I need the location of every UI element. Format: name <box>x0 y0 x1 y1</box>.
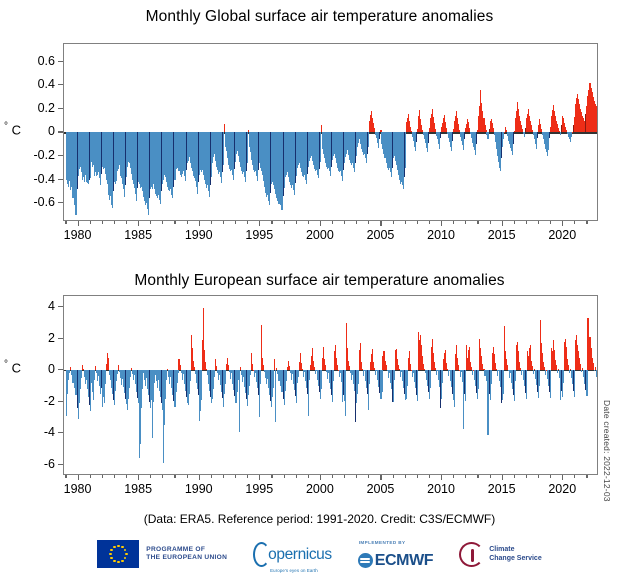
x-tick-minor <box>453 475 454 478</box>
x-tick-label: 1995 <box>245 228 273 242</box>
copernicus-wordmark: opernicus <box>268 547 332 562</box>
bar <box>309 370 310 379</box>
bar <box>368 132 369 146</box>
climate-figure: Monthly Global surface air temperature a… <box>0 0 639 576</box>
bar <box>573 370 574 391</box>
x-tick-major <box>259 221 260 226</box>
bar <box>489 129 490 133</box>
bar <box>260 370 261 384</box>
bar <box>222 370 223 398</box>
x-tick-minor <box>90 475 91 478</box>
x-tick-minor <box>296 475 297 478</box>
x-tick-label: 2010 <box>427 228 455 242</box>
x-tick-minor <box>187 221 188 224</box>
y-tick-mark <box>58 401 63 402</box>
bar <box>77 370 78 408</box>
bar <box>487 132 488 139</box>
bar <box>198 370 199 395</box>
bar <box>586 370 587 396</box>
bar <box>198 132 199 182</box>
x-tick-minor <box>429 221 430 224</box>
x-tick-minor <box>405 221 406 224</box>
c3s-logo-text: Climate Change Service <box>489 545 542 563</box>
bar <box>379 132 380 139</box>
bar <box>404 370 405 394</box>
eu-star-icon <box>110 549 113 552</box>
eu-logo: PROGRAMME OF THE EUROPEAN UNION <box>97 540 227 568</box>
x-tick-minor <box>453 221 454 224</box>
bar <box>258 370 259 394</box>
bar <box>452 132 453 140</box>
bar <box>521 370 522 375</box>
x-tick-minor <box>150 475 151 478</box>
x-tick-major <box>502 221 503 226</box>
x-tick-minor <box>65 475 66 478</box>
bar <box>295 370 296 396</box>
bar <box>367 132 368 153</box>
bar <box>105 370 106 384</box>
y-tick-mark <box>58 179 63 180</box>
bar <box>369 370 370 384</box>
x-tick-minor <box>550 221 551 224</box>
x-tick-label: 1985 <box>124 482 152 496</box>
x-tick-minor <box>538 475 539 478</box>
eu-star-icon <box>124 557 127 560</box>
bar <box>525 370 526 392</box>
x-tick-major <box>78 221 79 226</box>
bar <box>210 132 211 185</box>
x-tick-minor <box>429 475 430 478</box>
date-created-label: Date created: 2022-12-03 <box>602 400 612 502</box>
bar <box>94 370 95 379</box>
x-tick-minor <box>393 221 394 224</box>
x-tick-label: 2000 <box>306 228 334 242</box>
y-tick-mark <box>58 338 63 339</box>
bar <box>379 370 380 393</box>
x-tick-label: 1995 <box>245 482 273 496</box>
x-tick-minor <box>405 475 406 478</box>
x-tick-minor <box>90 221 91 224</box>
eu-logo-line1: PROGRAMME OF <box>146 546 227 554</box>
bar <box>569 370 570 372</box>
x-tick-minor <box>284 221 285 224</box>
bar <box>430 370 431 387</box>
bar <box>201 370 202 400</box>
x-tick-major <box>562 221 563 226</box>
x-tick-minor <box>308 221 309 224</box>
bar <box>392 132 393 167</box>
bar <box>333 370 334 381</box>
x-tick-label: 2005 <box>367 482 395 496</box>
x-tick-minor <box>211 475 212 478</box>
copernicus-logo: opernicus Europe's eyes on Earth <box>253 542 332 567</box>
x-tick-label: 2015 <box>488 482 516 496</box>
x-tick-major <box>380 475 381 480</box>
bar <box>524 132 525 137</box>
bar <box>464 132 465 139</box>
y-tick-label: -4 <box>15 425 55 439</box>
x-tick-minor <box>356 475 357 478</box>
bar <box>367 370 368 394</box>
bar <box>321 125 322 132</box>
x-tick-major <box>320 475 321 480</box>
x-tick-major <box>380 221 381 226</box>
bar <box>270 132 271 192</box>
x-tick-minor <box>477 221 478 224</box>
bar <box>275 370 276 422</box>
bar <box>210 370 211 397</box>
bar <box>343 370 344 394</box>
bar <box>355 132 356 163</box>
x-tick-minor <box>574 221 575 224</box>
y-tick-label: 0.2 <box>15 101 55 115</box>
bar <box>223 132 224 165</box>
bar <box>113 370 114 400</box>
c3s-line2: Change Service <box>489 554 542 563</box>
x-tick-minor <box>538 221 539 224</box>
x-tick-minor <box>296 221 297 224</box>
x-tick-minor <box>223 475 224 478</box>
bar <box>321 370 322 389</box>
bar <box>513 370 514 395</box>
bar <box>307 370 308 394</box>
bar <box>465 370 466 400</box>
x-tick-minor <box>490 475 491 478</box>
y-tick-label: 0 <box>15 124 55 138</box>
bar <box>234 370 235 396</box>
bar <box>345 370 346 416</box>
chart-title-global: Monthly Global surface air temperature a… <box>0 8 639 26</box>
bar <box>560 132 561 134</box>
x-tick-minor <box>526 475 527 478</box>
eu-logo-line2: THE EUROPEAN UNION <box>146 554 227 562</box>
bar <box>166 370 167 379</box>
plot-area-global <box>63 43 598 221</box>
y-tick-mark <box>58 464 63 465</box>
x-tick-major <box>441 475 442 480</box>
bar <box>405 132 406 167</box>
bar <box>69 370 70 373</box>
eu-star-icon <box>110 557 113 560</box>
bar <box>270 370 271 401</box>
y-tick-mark <box>58 61 63 62</box>
x-tick-minor <box>344 475 345 478</box>
bar <box>428 370 429 392</box>
c3s-line1: Climate <box>489 545 542 554</box>
bar <box>358 370 359 384</box>
bar <box>286 370 287 381</box>
x-tick-minor <box>284 475 285 478</box>
bar <box>89 370 90 405</box>
plot-area-europe <box>63 295 598 475</box>
bar <box>407 370 408 386</box>
bar <box>513 132 514 144</box>
x-tick-minor <box>65 221 66 224</box>
x-tick-minor <box>526 221 527 224</box>
x-tick-major <box>78 475 79 480</box>
x-tick-label: 2005 <box>367 228 395 242</box>
bar <box>581 370 582 372</box>
x-tick-label: 1990 <box>185 482 213 496</box>
bar <box>452 370 453 393</box>
bar <box>319 132 320 169</box>
x-tick-minor <box>211 221 212 224</box>
y-tick-mark <box>58 306 63 307</box>
x-tick-minor <box>187 475 188 478</box>
bar <box>186 132 187 170</box>
bar <box>572 132 573 133</box>
bar <box>283 132 284 196</box>
y-tick-label: -2 <box>15 394 55 408</box>
x-tick-minor <box>332 221 333 224</box>
x-tick-minor <box>417 475 418 478</box>
bar <box>557 370 558 373</box>
x-tick-major <box>199 475 200 480</box>
ecmwf-implemented-by-label: IMPLEMENTED BY <box>359 540 406 545</box>
bar <box>464 370 465 394</box>
bar <box>476 132 477 144</box>
x-tick-minor <box>223 221 224 224</box>
bar <box>190 370 191 381</box>
bar <box>563 370 564 383</box>
bar <box>416 132 417 141</box>
bar <box>585 114 586 133</box>
x-tick-minor <box>174 475 175 478</box>
y-tick-label: -6 <box>15 457 55 471</box>
y-tick-label: -0.2 <box>15 148 55 162</box>
bar <box>177 370 178 373</box>
x-tick-major <box>562 475 563 480</box>
bar <box>594 370 595 371</box>
bar <box>295 132 296 183</box>
x-tick-label: 2020 <box>548 482 576 496</box>
c3s-logo: Climate Change Service <box>459 542 542 567</box>
y-tick-label: 0.6 <box>15 54 55 68</box>
bar <box>476 370 477 392</box>
bar <box>550 370 551 398</box>
x-tick-minor <box>465 475 466 478</box>
bar <box>561 370 562 391</box>
y-tick-label: 0.4 <box>15 77 55 91</box>
x-tick-minor <box>586 221 587 224</box>
bar <box>247 132 248 163</box>
y-tick-mark <box>58 155 63 156</box>
bar <box>161 132 162 191</box>
bar-series-global <box>64 44 597 220</box>
x-tick-minor <box>514 221 515 224</box>
x-tick-minor <box>344 221 345 224</box>
bar <box>225 370 226 384</box>
x-tick-minor <box>126 221 127 224</box>
bar <box>298 370 299 376</box>
y-tick-mark <box>58 369 63 370</box>
x-tick-major <box>199 221 200 226</box>
bar <box>125 132 126 185</box>
x-tick-minor <box>174 221 175 224</box>
bar <box>442 370 443 383</box>
x-tick-label: 2010 <box>427 482 455 496</box>
bar <box>539 370 540 386</box>
x-tick-minor <box>162 221 163 224</box>
x-tick-label: 2015 <box>488 228 516 242</box>
bar <box>343 132 344 170</box>
bar <box>533 370 534 374</box>
y-tick-mark <box>58 108 63 109</box>
x-tick-major <box>441 221 442 226</box>
bar <box>428 132 429 143</box>
x-tick-minor <box>114 221 115 224</box>
bar <box>504 132 505 133</box>
bar <box>545 370 546 374</box>
bar <box>363 370 364 376</box>
bar <box>258 132 259 170</box>
c3s-thermometer-icon <box>459 542 484 567</box>
bar <box>149 370 150 402</box>
x-tick-minor <box>126 475 127 478</box>
bar <box>224 124 225 132</box>
bar <box>585 370 586 390</box>
eu-logo-text: PROGRAMME OF THE EUROPEAN UNION <box>146 546 227 563</box>
bar <box>149 132 150 198</box>
eu-flag-icon <box>97 540 139 568</box>
x-tick-label: 1980 <box>64 482 92 496</box>
bar <box>454 370 455 406</box>
ecmwf-wordmark: ECMWF <box>375 553 433 569</box>
bar-series-europe <box>64 296 597 474</box>
bar <box>222 132 223 172</box>
x-tick-minor <box>490 221 491 224</box>
eu-star-icon <box>121 560 124 563</box>
bar <box>108 358 109 371</box>
bar <box>489 370 490 394</box>
x-tick-label: 2020 <box>548 228 576 242</box>
bar <box>117 370 118 374</box>
y-tick-label: 2 <box>15 331 55 345</box>
bar <box>501 370 502 403</box>
x-tick-minor <box>308 475 309 478</box>
y-tick-label: 0 <box>15 362 55 376</box>
panel-europe: Monthly European surface air temperature… <box>0 262 639 524</box>
eu-star-icon <box>124 549 127 552</box>
bar <box>246 132 247 171</box>
x-tick-label: 1985 <box>124 228 152 242</box>
bar <box>331 370 332 395</box>
bar <box>137 370 138 398</box>
x-tick-minor <box>465 221 466 224</box>
bar <box>503 132 504 139</box>
bar <box>537 132 538 138</box>
x-tick-label: 1980 <box>64 228 92 242</box>
bar <box>501 132 502 158</box>
x-tick-minor <box>514 475 515 478</box>
x-tick-minor <box>332 475 333 478</box>
y-tick-mark <box>58 84 63 85</box>
bar <box>491 370 492 384</box>
bar <box>77 132 78 189</box>
eu-star-icon <box>113 560 116 563</box>
bar <box>394 370 395 379</box>
bar <box>307 132 308 173</box>
bar <box>440 132 441 138</box>
x-tick-minor <box>356 221 357 224</box>
bar <box>173 132 174 186</box>
bar <box>81 370 82 378</box>
x-tick-minor <box>477 475 478 478</box>
bar <box>101 370 102 387</box>
x-tick-minor <box>235 475 236 478</box>
bar <box>186 370 187 397</box>
bar <box>246 370 247 399</box>
y-tick-label: 4 <box>15 299 55 313</box>
bar <box>239 370 240 432</box>
bar <box>234 132 235 169</box>
bar <box>571 132 572 137</box>
y-tick-mark <box>58 131 63 132</box>
bar <box>549 370 550 392</box>
bar <box>472 370 473 374</box>
x-tick-minor <box>393 475 394 478</box>
ecmwf-row: ECMWF <box>358 553 433 569</box>
bar <box>273 370 274 387</box>
x-tick-major <box>138 221 139 226</box>
x-tick-minor <box>271 475 272 478</box>
bar <box>319 370 320 392</box>
x-tick-minor <box>574 475 575 478</box>
bar <box>593 363 594 370</box>
bar <box>161 370 162 403</box>
eu-star-icon <box>125 553 128 556</box>
x-tick-major <box>259 475 260 480</box>
x-tick-minor <box>150 221 151 224</box>
y-tick-mark <box>58 202 63 203</box>
y-tick-mark <box>58 432 63 433</box>
x-tick-minor <box>368 221 369 224</box>
x-tick-minor <box>247 475 248 478</box>
bar <box>525 128 526 133</box>
x-tick-minor <box>235 221 236 224</box>
bar <box>137 132 138 187</box>
x-tick-minor <box>114 475 115 478</box>
bar <box>537 370 538 391</box>
bar <box>113 132 114 191</box>
bar <box>417 370 418 401</box>
bar <box>130 370 131 376</box>
bar <box>89 132 90 179</box>
x-tick-label: 2000 <box>306 482 334 496</box>
x-tick-minor <box>247 221 248 224</box>
bar <box>549 132 550 138</box>
figure-caption: (Data: ERA5. Reference period: 1991-2020… <box>0 512 639 526</box>
bar <box>478 370 479 389</box>
bar <box>416 370 417 394</box>
bar <box>331 132 332 166</box>
x-tick-minor <box>368 475 369 478</box>
bar <box>355 370 356 422</box>
x-tick-major <box>138 475 139 480</box>
x-tick-minor <box>550 475 551 478</box>
bar <box>574 370 575 397</box>
x-tick-minor <box>102 475 103 478</box>
x-tick-minor <box>586 475 587 478</box>
bar <box>250 370 251 375</box>
eu-star-icon <box>121 546 124 549</box>
bar <box>214 370 215 376</box>
bar <box>503 370 504 394</box>
bar <box>573 125 574 132</box>
x-tick-major <box>502 475 503 480</box>
bar <box>381 370 382 392</box>
x-tick-minor <box>271 221 272 224</box>
